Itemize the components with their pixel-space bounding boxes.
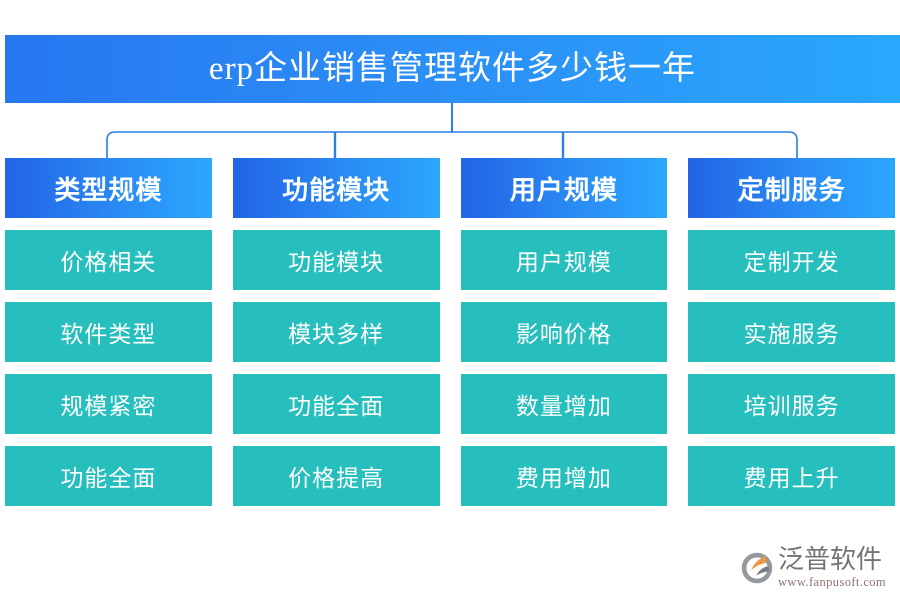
cell-slot: 功能全面 [233,362,440,434]
column-header-1[interactable]: 类型规模 [5,158,212,218]
watermark-logo: 泛普软件 www.fanpusoft.com [740,544,892,592]
category-cell[interactable]: 数量增加 [461,374,668,434]
category-column-1: 类型规模 价格相关 软件类型 规模紧密 功能全面 [5,158,212,550]
column-header-3[interactable]: 用户规模 [461,158,668,218]
category-column-2: 功能模块 功能模块 模块多样 功能全面 价格提高 [233,158,440,550]
cell-slot: 数量增加 [461,362,668,434]
cell-slot: 定制开发 [688,218,895,290]
cell-slot: 价格提高 [233,434,440,506]
category-cell[interactable]: 功能全面 [233,374,440,434]
connector-lines [0,98,900,162]
category-column-4: 定制服务 定制开发 实施服务 培训服务 费用上升 [688,158,895,550]
category-cell[interactable]: 用户规模 [461,230,668,290]
category-cell[interactable]: 价格相关 [5,230,212,290]
swoosh-circle-icon [740,551,774,585]
column-header-4[interactable]: 定制服务 [688,158,895,218]
category-cell[interactable]: 模块多样 [233,302,440,362]
cell-slot: 实施服务 [688,290,895,362]
category-cell[interactable]: 费用增加 [461,446,668,506]
category-cell[interactable]: 定制开发 [688,230,895,290]
logo-website-url: www.fanpusoft.com [778,576,886,589]
category-cell[interactable]: 软件类型 [5,302,212,362]
category-column-3: 用户规模 用户规模 影响价格 数量增加 费用增加 [461,158,668,550]
category-cell[interactable]: 培训服务 [688,374,895,434]
cell-slot: 规模紧密 [5,362,212,434]
cell-slot: 功能模块 [233,218,440,290]
column-header-2[interactable]: 功能模块 [233,158,440,218]
cell-slot: 影响价格 [461,290,668,362]
logo-text-group: 泛普软件 www.fanpusoft.com [778,547,886,589]
category-cell[interactable]: 价格提高 [233,446,440,506]
cell-slot: 用户规模 [461,218,668,290]
category-cell[interactable]: 影响价格 [461,302,668,362]
cell-slot: 价格相关 [5,218,212,290]
cell-slot: 费用上升 [688,434,895,506]
category-cell[interactable]: 功能模块 [233,230,440,290]
cell-slot: 培训服务 [688,362,895,434]
org-chart-diagram: erp企业销售管理软件多少钱一年 类型规模 价格相关 软件类型 规模紧密 功能全… [0,0,900,600]
cell-slot: 软件类型 [5,290,212,362]
category-cell[interactable]: 费用上升 [688,446,895,506]
page-title: erp企业销售管理软件多少钱一年 [209,53,696,86]
cell-slot: 功能全面 [5,434,212,506]
category-columns: 类型规模 价格相关 软件类型 规模紧密 功能全面 功能模块 功能模块 模块多样 [5,158,895,550]
category-cell[interactable]: 实施服务 [688,302,895,362]
logo-brand-name: 泛普软件 [778,547,886,573]
category-cell[interactable]: 功能全面 [5,446,212,506]
diagram-title-banner: erp企业销售管理软件多少钱一年 [5,35,900,103]
cell-slot: 模块多样 [233,290,440,362]
category-cell[interactable]: 规模紧密 [5,374,212,434]
cell-slot: 费用增加 [461,434,668,506]
